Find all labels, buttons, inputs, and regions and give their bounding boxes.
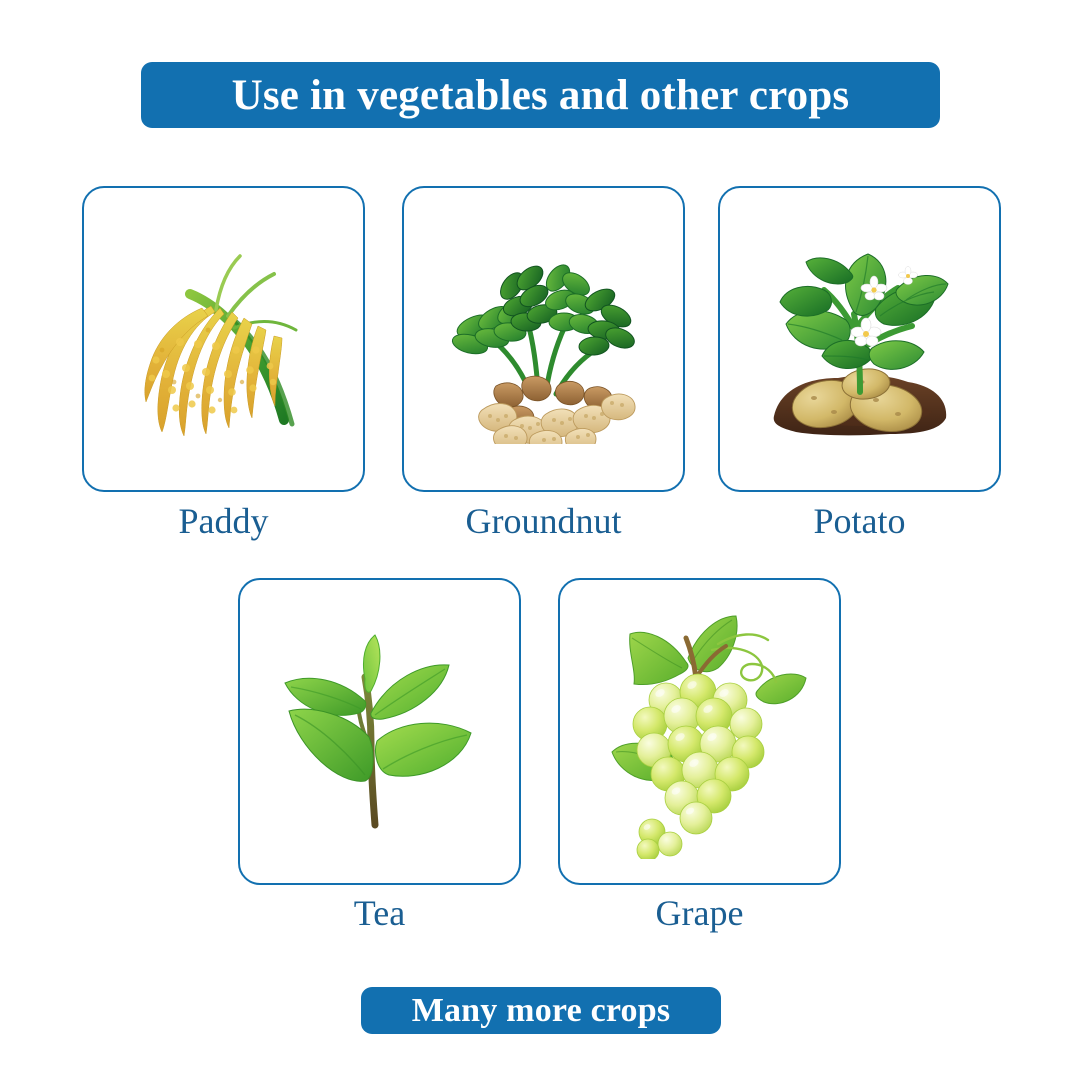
crop-label-groundnut: Groundnut xyxy=(402,500,685,542)
header-banner-label: Use in vegetables and other crops xyxy=(232,71,850,120)
crop-card-grape[interactable] xyxy=(558,578,841,885)
tea-shoot-icon xyxy=(240,580,519,883)
footer-banner-label: Many more crops xyxy=(412,992,671,1030)
footer-banner: Many more crops xyxy=(361,987,721,1034)
crop-label-grape: Grape xyxy=(558,892,841,934)
potato-plant-icon xyxy=(720,188,999,490)
crop-card-potato[interactable] xyxy=(718,186,1001,492)
groundnut-plant-icon xyxy=(404,188,683,490)
crop-label-potato: Potato xyxy=(718,500,1001,542)
rice-panicle-icon xyxy=(84,188,363,490)
crop-label-tea: Tea xyxy=(238,892,521,934)
header-banner: Use in vegetables and other crops xyxy=(141,62,940,128)
crop-card-groundnut[interactable] xyxy=(402,186,685,492)
crop-card-tea[interactable] xyxy=(238,578,521,885)
crop-card-paddy[interactable] xyxy=(82,186,365,492)
grape-bunch-icon xyxy=(560,580,839,883)
crop-label-paddy: Paddy xyxy=(82,500,365,542)
